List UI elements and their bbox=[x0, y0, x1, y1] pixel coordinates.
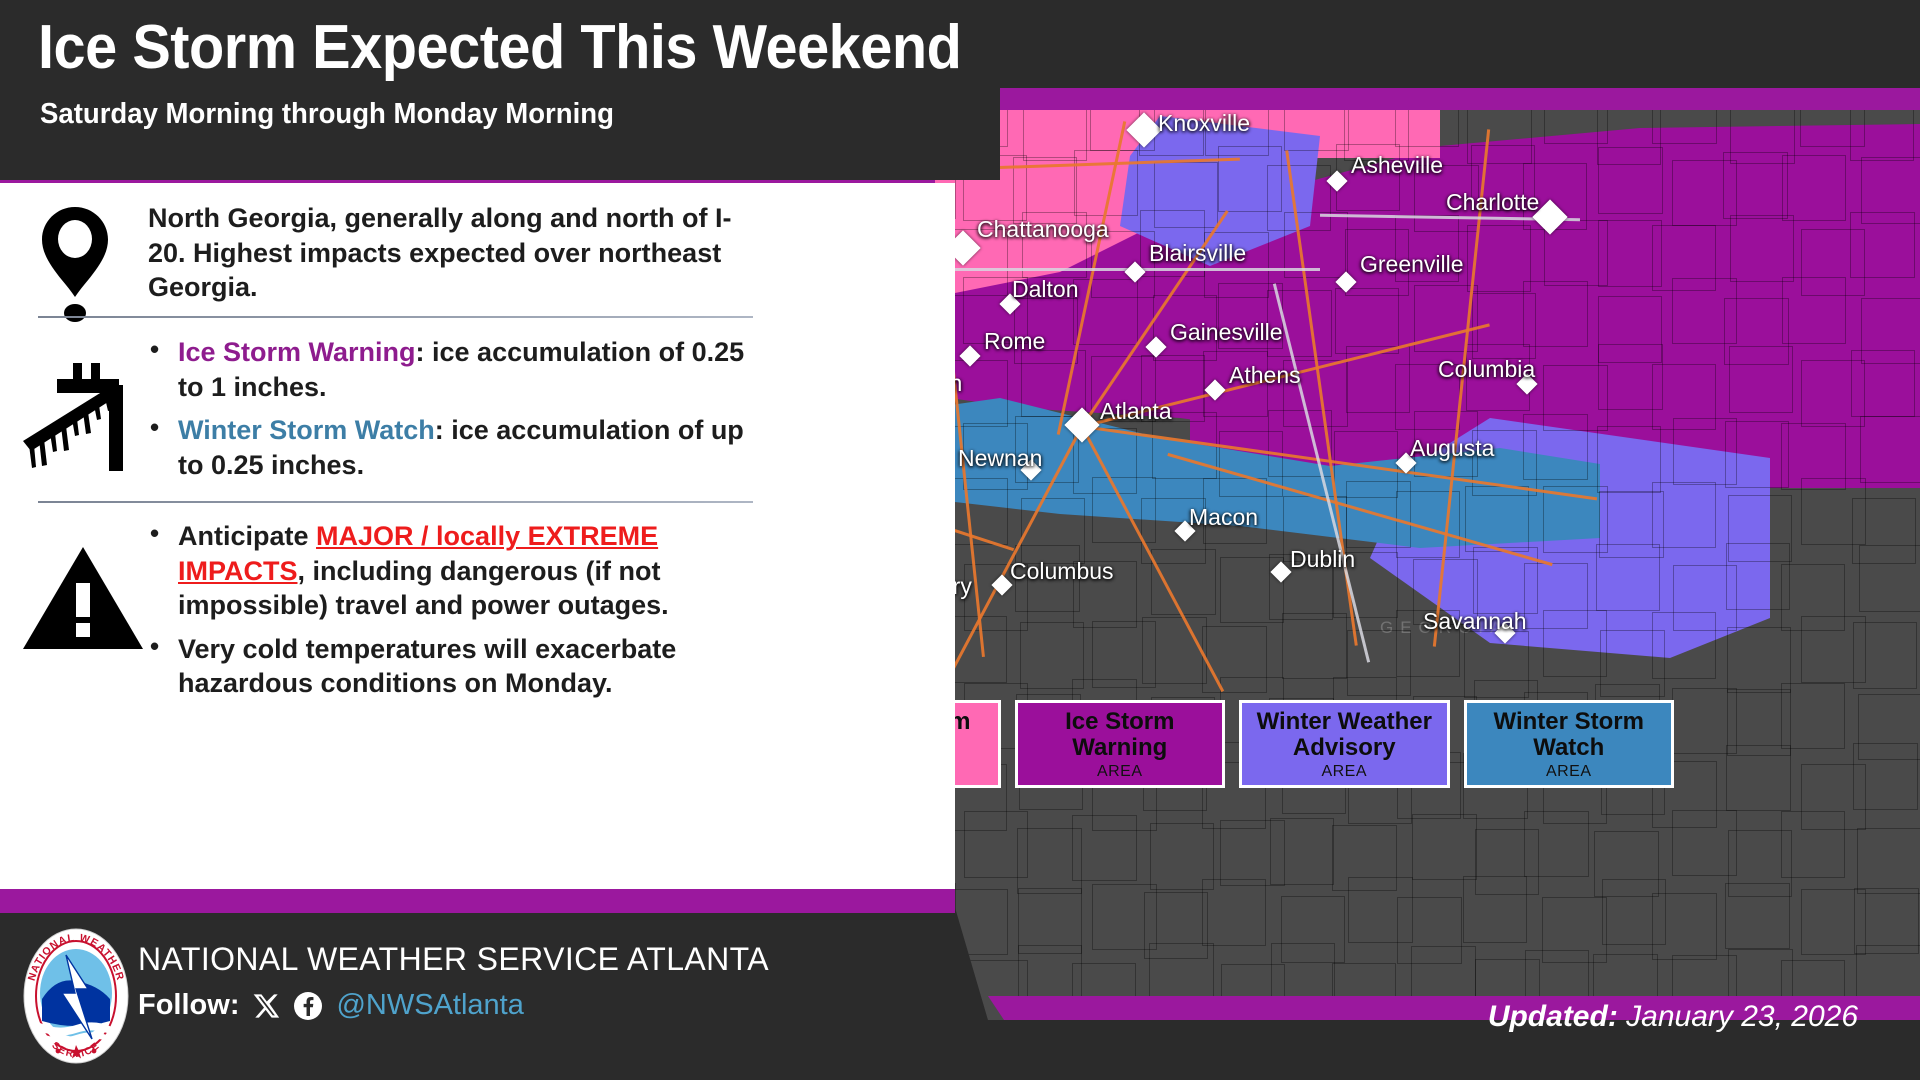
county-boundary bbox=[1463, 876, 1527, 943]
facebook-icon[interactable] bbox=[293, 991, 323, 1021]
city-label: Dublin bbox=[1290, 546, 1355, 573]
footer-accent-bar bbox=[0, 889, 955, 913]
city-label: Dalton bbox=[1012, 276, 1078, 303]
nws-logo: NATIONAL WEATHER SERVICE bbox=[22, 927, 130, 1070]
follow-label: Follow: bbox=[138, 989, 239, 1022]
city-label: Asheville bbox=[1351, 152, 1443, 179]
county-boundary bbox=[1853, 622, 1917, 689]
page-title: Ice Storm Expected This Weekend bbox=[38, 14, 961, 82]
county-boundary bbox=[1524, 811, 1588, 878]
city-label: Greenville bbox=[1360, 251, 1464, 278]
ice-storm-warning-keyword: Ice Storm Warning bbox=[178, 337, 416, 367]
city-label: Rome bbox=[984, 328, 1045, 355]
city-label: Blairsville bbox=[1149, 240, 1246, 267]
legend-area-label: AREA bbox=[1546, 763, 1592, 781]
header: Ice Storm Expected This Weekend Saturday… bbox=[0, 0, 1000, 180]
bullet-major-impacts: Anticipate MAJOR / locally EXTREME IMPAC… bbox=[148, 519, 748, 623]
bullet-winter-storm-watch: Winter Storm Watch: ice accumulation of … bbox=[148, 413, 748, 482]
city-label: Gainesville bbox=[1170, 319, 1283, 346]
location-pin-icon bbox=[0, 205, 150, 328]
county-boundary bbox=[1859, 545, 1920, 612]
county-boundary bbox=[1282, 613, 1346, 680]
location-text: North Georgia, generally along and north… bbox=[148, 201, 748, 305]
county-boundary bbox=[1652, 482, 1716, 549]
divider-2 bbox=[38, 501, 753, 503]
updated-date: January 23, 2026 bbox=[1626, 1000, 1858, 1033]
county-boundary bbox=[1335, 288, 1399, 355]
legend-item: Winter StormWatchAREA bbox=[1464, 700, 1675, 788]
info-panel: North Georgia, generally along and north… bbox=[0, 183, 955, 889]
city-label: Chattanooga bbox=[977, 216, 1109, 243]
icy-power-line-icon bbox=[4, 355, 154, 480]
county-boundary bbox=[1723, 152, 1787, 219]
county-boundary bbox=[1021, 350, 1085, 417]
county-boundary bbox=[1781, 683, 1845, 750]
county-boundary bbox=[1782, 155, 1846, 222]
legend-title-line2: Advisory bbox=[1293, 735, 1396, 760]
county-boundary bbox=[1596, 544, 1660, 611]
legend-title-line1: Ice Storm bbox=[1065, 709, 1174, 734]
county-boundary bbox=[1072, 815, 1136, 882]
county-boundary bbox=[1781, 811, 1845, 878]
warning-triangle-icon bbox=[8, 545, 158, 658]
county-boundary bbox=[1729, 346, 1793, 413]
county-boundary bbox=[1151, 549, 1215, 616]
footer: NATIONAL WEATHER SERVICE NATIONAL WEATHE… bbox=[0, 913, 955, 1080]
bullet-cold-temps: Very cold temperatures will exacerbate h… bbox=[148, 632, 748, 701]
county-boundary bbox=[1726, 745, 1790, 812]
county-boundary bbox=[1652, 893, 1716, 960]
city-label: Newnan bbox=[958, 445, 1042, 472]
county-boundary bbox=[1850, 212, 1914, 279]
legend-title-line1: Winter Weather bbox=[1257, 709, 1432, 734]
city-label: Macon bbox=[1189, 504, 1258, 531]
cold-temps-text: Very cold temperatures will exacerbate h… bbox=[178, 634, 676, 699]
city-label: Charlotte bbox=[1446, 189, 1539, 216]
county-boundary bbox=[1725, 421, 1789, 488]
county-boundary bbox=[1412, 814, 1476, 881]
city-label: Athens bbox=[1229, 362, 1301, 389]
county-boundary bbox=[1543, 610, 1607, 677]
updated-label: Updated: bbox=[1488, 1000, 1618, 1033]
county-boundary bbox=[1725, 883, 1789, 950]
county-boundary bbox=[1857, 828, 1920, 895]
county-boundary bbox=[1851, 350, 1915, 417]
impact-bullets: Anticipate MAJOR / locally EXTREME IMPAC… bbox=[148, 519, 748, 710]
county-boundary bbox=[1142, 617, 1206, 684]
city-label: Columbia bbox=[1438, 356, 1535, 383]
legend-item: Ice StormWarningAREA bbox=[1015, 700, 1226, 788]
nws-office-name: NATIONAL WEATHER SERVICE ATLANTA bbox=[138, 941, 769, 978]
city-label: Knoxville bbox=[1158, 110, 1250, 137]
county-boundary bbox=[1270, 818, 1334, 885]
legend-title-line2: Watch bbox=[1533, 735, 1604, 760]
impact-prefix: Anticipate bbox=[178, 521, 316, 551]
social-handle[interactable]: @NWSAtlanta bbox=[336, 989, 523, 1022]
county-boundary bbox=[1860, 416, 1920, 483]
county-boundary bbox=[1730, 215, 1794, 282]
county-boundary bbox=[1523, 281, 1587, 348]
county-boundary bbox=[1523, 414, 1587, 481]
city-label: Columbus bbox=[1010, 558, 1114, 585]
county-boundary bbox=[1853, 743, 1917, 810]
legend-area-label: AREA bbox=[1321, 763, 1367, 781]
legend-title-line1: Winter Storm bbox=[1494, 709, 1644, 734]
legend-title-line2: Warning bbox=[1072, 735, 1167, 760]
county-boundary bbox=[1598, 147, 1662, 214]
city-label: Augusta bbox=[1410, 435, 1494, 462]
follow-row: Follow: @NWSAtlanta bbox=[138, 989, 524, 1022]
city-label: Atlanta bbox=[1100, 398, 1172, 425]
county-boundary bbox=[1652, 612, 1716, 679]
x-icon[interactable] bbox=[252, 992, 280, 1020]
legend-item: Winter WeatherAdvisoryAREA bbox=[1239, 700, 1450, 788]
bullet-ice-storm-warning: Ice Storm Warning: ice accumulation of 0… bbox=[148, 335, 748, 404]
city-label: Savannah bbox=[1423, 608, 1527, 635]
warning-bullets: Ice Storm Warning: ice accumulation of 0… bbox=[148, 335, 748, 491]
page-subtitle: Saturday Morning through Monday Morning bbox=[40, 98, 614, 131]
winter-storm-watch-keyword: Winter Storm Watch bbox=[178, 415, 435, 445]
updated-timestamp: Updated: January 23, 2026 bbox=[1488, 1000, 1858, 1034]
county-boundary bbox=[1782, 277, 1846, 344]
divider-1 bbox=[38, 316, 753, 318]
county-boundary bbox=[1202, 879, 1266, 946]
legend-area-label: AREA bbox=[1097, 763, 1143, 781]
